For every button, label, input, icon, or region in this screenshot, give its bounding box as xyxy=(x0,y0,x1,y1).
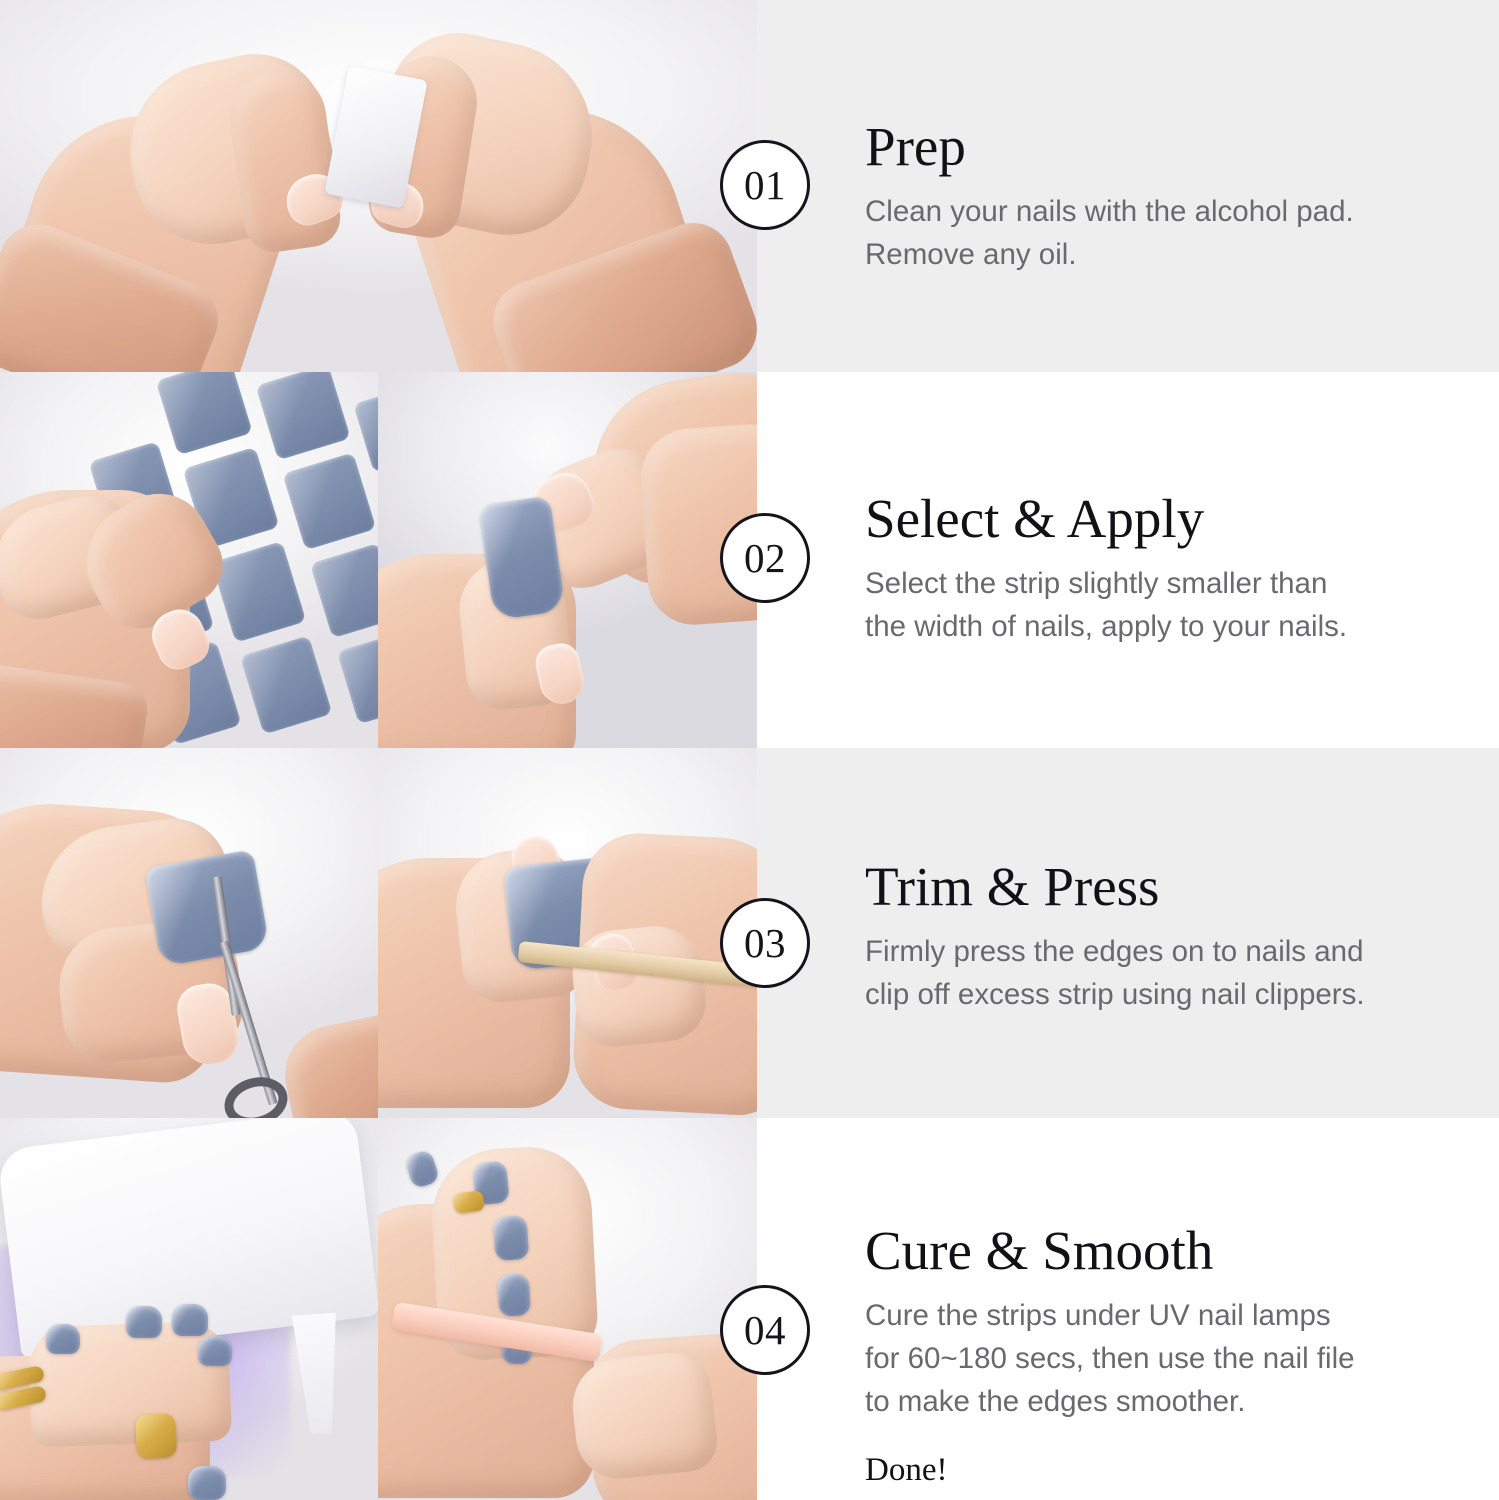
step-text-04: Cure & Smooth Cure the strips under UV n… xyxy=(865,1222,1465,1491)
nail-thumb xyxy=(188,1466,226,1500)
nail-middle xyxy=(493,1215,530,1261)
right-index-finger xyxy=(568,922,709,1051)
photo-filing-nail-edges-with-pink-nail-file xyxy=(378,1118,757,1500)
ring-gold-wide xyxy=(135,1413,178,1460)
step-number-03: 03 xyxy=(744,919,786,967)
step-number-01: 01 xyxy=(744,161,786,209)
right-fingers xyxy=(568,1349,720,1483)
photo-strip-02 xyxy=(0,372,757,748)
nail-index xyxy=(198,1336,232,1366)
step-row-01: 01 Prep Clean your nails with the alcoho… xyxy=(0,0,1499,372)
strip-tile xyxy=(255,372,350,460)
nail-ring xyxy=(497,1273,531,1317)
step-number-04: 04 xyxy=(744,1306,786,1354)
step-title-01: Prep xyxy=(865,118,1465,176)
step-text-03: Trim & Press Firmly press the edges on t… xyxy=(865,858,1465,1016)
photo-strip-03 xyxy=(0,748,757,1118)
step-description-01: Clean your nails with the alcohol pad. R… xyxy=(865,190,1465,276)
strip-tile xyxy=(353,387,378,473)
step-title-02: Select & Apply xyxy=(865,490,1465,548)
strip-tile xyxy=(211,541,306,643)
step-title-04: Cure & Smooth xyxy=(865,1222,1465,1280)
strip-tile xyxy=(310,543,378,639)
photo-two-hands-holding-alcohol-pad xyxy=(0,0,757,372)
step-text-01: Prep Clean your nails with the alcohol p… xyxy=(865,118,1465,276)
nail-ring xyxy=(126,1306,162,1338)
step-description-03: Firmly press the edges on to nails and c… xyxy=(865,930,1465,1016)
photo-hand-holding-sheet-of-blue-nail-strips xyxy=(0,372,378,748)
nail-with-strip xyxy=(144,849,270,967)
step-badge-02: 02 xyxy=(720,513,810,603)
step-number-02: 02 xyxy=(744,534,786,582)
step-title-03: Trim & Press xyxy=(865,858,1465,916)
photo-hand-under-uv-lamp-purple-glow xyxy=(0,1118,378,1500)
strip-tile xyxy=(156,372,253,455)
step-row-03: 03 Trim & Press Firmly press the edges o… xyxy=(0,748,1499,1118)
step-row-04: 04 Cure & Smooth Cure the strips under U… xyxy=(0,1118,1499,1500)
nail-middle xyxy=(172,1304,208,1336)
step-row-02: 02 Select & Apply Select the strip sligh… xyxy=(0,372,1499,748)
step-badge-04: 04 xyxy=(720,1285,810,1375)
step-badge-01: 01 xyxy=(720,140,810,230)
nail-pinky xyxy=(46,1324,80,1354)
photo-applying-strip-to-thumb-nail xyxy=(378,372,757,748)
step-description-04: Cure the strips under UV nail lamps for … xyxy=(865,1294,1465,1423)
photo-scissors-trimming-excess-strip xyxy=(0,748,378,1118)
photo-strip-04 xyxy=(0,1118,757,1500)
photo-wooden-stick-pressing-strip-edge xyxy=(378,748,757,1118)
step-done-label: Done! xyxy=(865,1451,1465,1491)
strip-tile xyxy=(282,452,376,550)
step-description-02: Select the strip slightly smaller than t… xyxy=(865,562,1465,648)
step-text-02: Select & Apply Select the strip slightly… xyxy=(865,490,1465,648)
instruction-sheet: 01 Prep Clean your nails with the alcoho… xyxy=(0,0,1499,1500)
photo-strip-01 xyxy=(0,0,757,372)
strip-tile xyxy=(240,635,333,734)
strip-tile xyxy=(337,631,378,724)
step-badge-03: 03 xyxy=(720,898,810,988)
